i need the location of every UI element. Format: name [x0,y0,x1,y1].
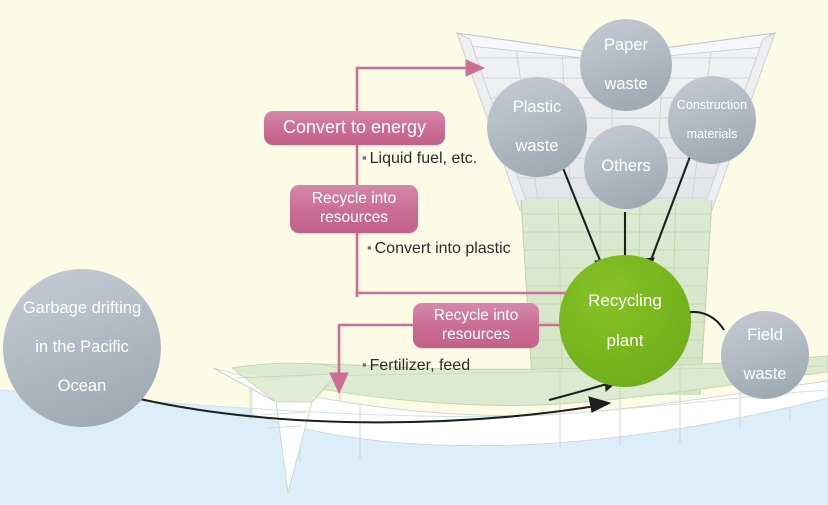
convert-to-energy-label[interactable]: Convert to energy [264,111,445,145]
others-circle-label: Others [595,157,657,176]
recycling-plant-circle-label: Recyclingplant [576,291,674,351]
bullet-liquid-fuel-text: Liquid fuel, etc. [370,150,478,167]
recycle-lower-text: Recycle intoresources [434,307,518,344]
bullet-fertilizer-feed: ▪Fertilizer, feed [362,357,470,375]
bullet-liquid-fuel: ▪Liquid fuel, etc. [362,150,477,168]
bullet-dot-icon: ▪ [362,150,367,165]
recycle-lower-line1: Recycle into [434,307,518,324]
plant-line2: plant [582,331,668,351]
bullet-fertilizer-feed-text: Fertilizer, feed [370,357,470,374]
field-waste-circle[interactable]: Fieldwaste [721,311,809,399]
convert-to-energy-label-text: Convert to energy [283,117,426,139]
bullet-convert-into-plastic-text: Convert into plastic [375,240,511,257]
paper-waste-circle-label: Paperwaste [592,36,660,94]
garbage-drifting-circle[interactable]: Garbage driftingin the PacificOcean [3,269,161,427]
construction-line1: Construction [671,98,753,113]
others-circle[interactable]: Others [584,125,668,209]
plastic-waste-circle-label: Plasticwaste [501,98,574,156]
paper-line1: Paper [598,36,654,55]
recycle-upper-line2: resources [320,209,388,226]
garbage-line1: Garbage drifting [17,299,147,318]
bullet-dot-icon: ▪ [367,240,372,255]
recycle-upper-text: Recycle intoresources [312,190,396,227]
construction-materials-circle-label: Constructionmaterials [665,98,759,142]
field-line2: waste [737,365,792,384]
bullet-dot-icon: ▪ [362,357,367,372]
plastic-line2: waste [507,137,568,156]
construction-materials-circle[interactable]: Constructionmaterials [668,76,756,164]
recycle-into-resources-label-lower[interactable]: Recycle intoresources [413,303,539,348]
pink-connector-convert-to-energy [357,60,484,297]
plastic-waste-circle[interactable]: Plasticwaste [487,77,587,177]
recycle-upper-line1: Recycle into [312,190,396,207]
plastic-line1: Plastic [507,98,568,117]
garbage-drifting-circle-label: Garbage driftingin the PacificOcean [11,299,153,396]
field-waste-circle-label: Fieldwaste [731,326,798,384]
garbage-line2: in the Pacific [17,338,147,357]
field-line1: Field [737,326,792,345]
recycle-into-resources-label-upper[interactable]: Recycle intoresources [290,185,418,233]
bullet-convert-into-plastic: ▪Convert into plastic [367,240,511,258]
construction-line2: materials [671,127,753,142]
paper-line2: waste [598,75,654,94]
recycling-plant-circle[interactable]: Recyclingplant [559,255,691,387]
garbage-line3: Ocean [17,377,147,396]
diagram-canvas: Garbage driftingin the PacificOcean Plas… [0,0,828,505]
recycle-lower-line2: resources [442,326,510,343]
paper-waste-circle[interactable]: Paperwaste [580,19,672,111]
plant-line1: Recycling [582,291,668,311]
